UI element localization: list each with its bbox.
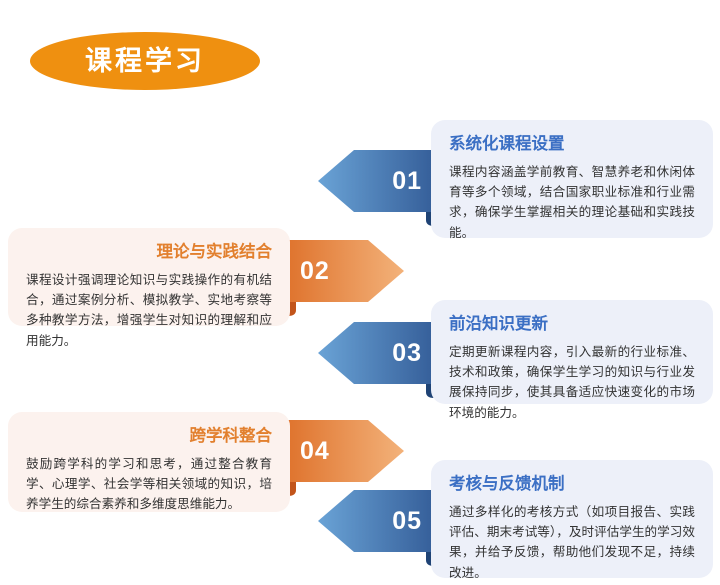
page-title: 课程学习 [85,48,205,75]
step-body-03: 定期更新课程内容，引入最新的行业标准、技术和政策，确保学生学习的知识与行业发展保… [449,342,695,424]
step-title-01: 系统化课程设置 [449,134,695,155]
step-title-03: 前沿知识更新 [449,314,695,335]
step-title-02: 理论与实践结合 [26,242,272,263]
step-card-01: 系统化课程设置 课程内容涵盖学前教育、智慧养老和休闲体育等多个领域，结合国家职业… [431,120,713,238]
page-title-badge: 课程学习 [30,32,260,90]
section-row-01: 01 系统化课程设置 课程内容涵盖学前教育、智慧养老和休闲体育等多个领域，结合国… [0,112,720,242]
step-card-03: 前沿知识更新 定期更新课程内容，引入最新的行业标准、技术和政策，确保学生学习的知… [431,300,713,404]
section-row-05: 05 考核与反馈机制 通过多样化的考核方式（如项目报告、实践评估、期末考试等），… [0,450,720,580]
step-title-04: 跨学科整合 [26,426,272,447]
step-title-05: 考核与反馈机制 [449,474,695,495]
step-banner-02[interactable]: 02 [270,240,404,302]
step-card-05: 考核与反馈机制 通过多样化的考核方式（如项目报告、实践评估、期末考试等），及时评… [431,460,713,578]
step-body-05: 通过多样化的考核方式（如项目报告、实践评估、期末考试等），及时评估学生的学习效果… [449,502,695,584]
section-row-03: 03 前沿知识更新 定期更新课程内容，引入最新的行业标准、技术和政策，确保学生学… [0,300,720,430]
